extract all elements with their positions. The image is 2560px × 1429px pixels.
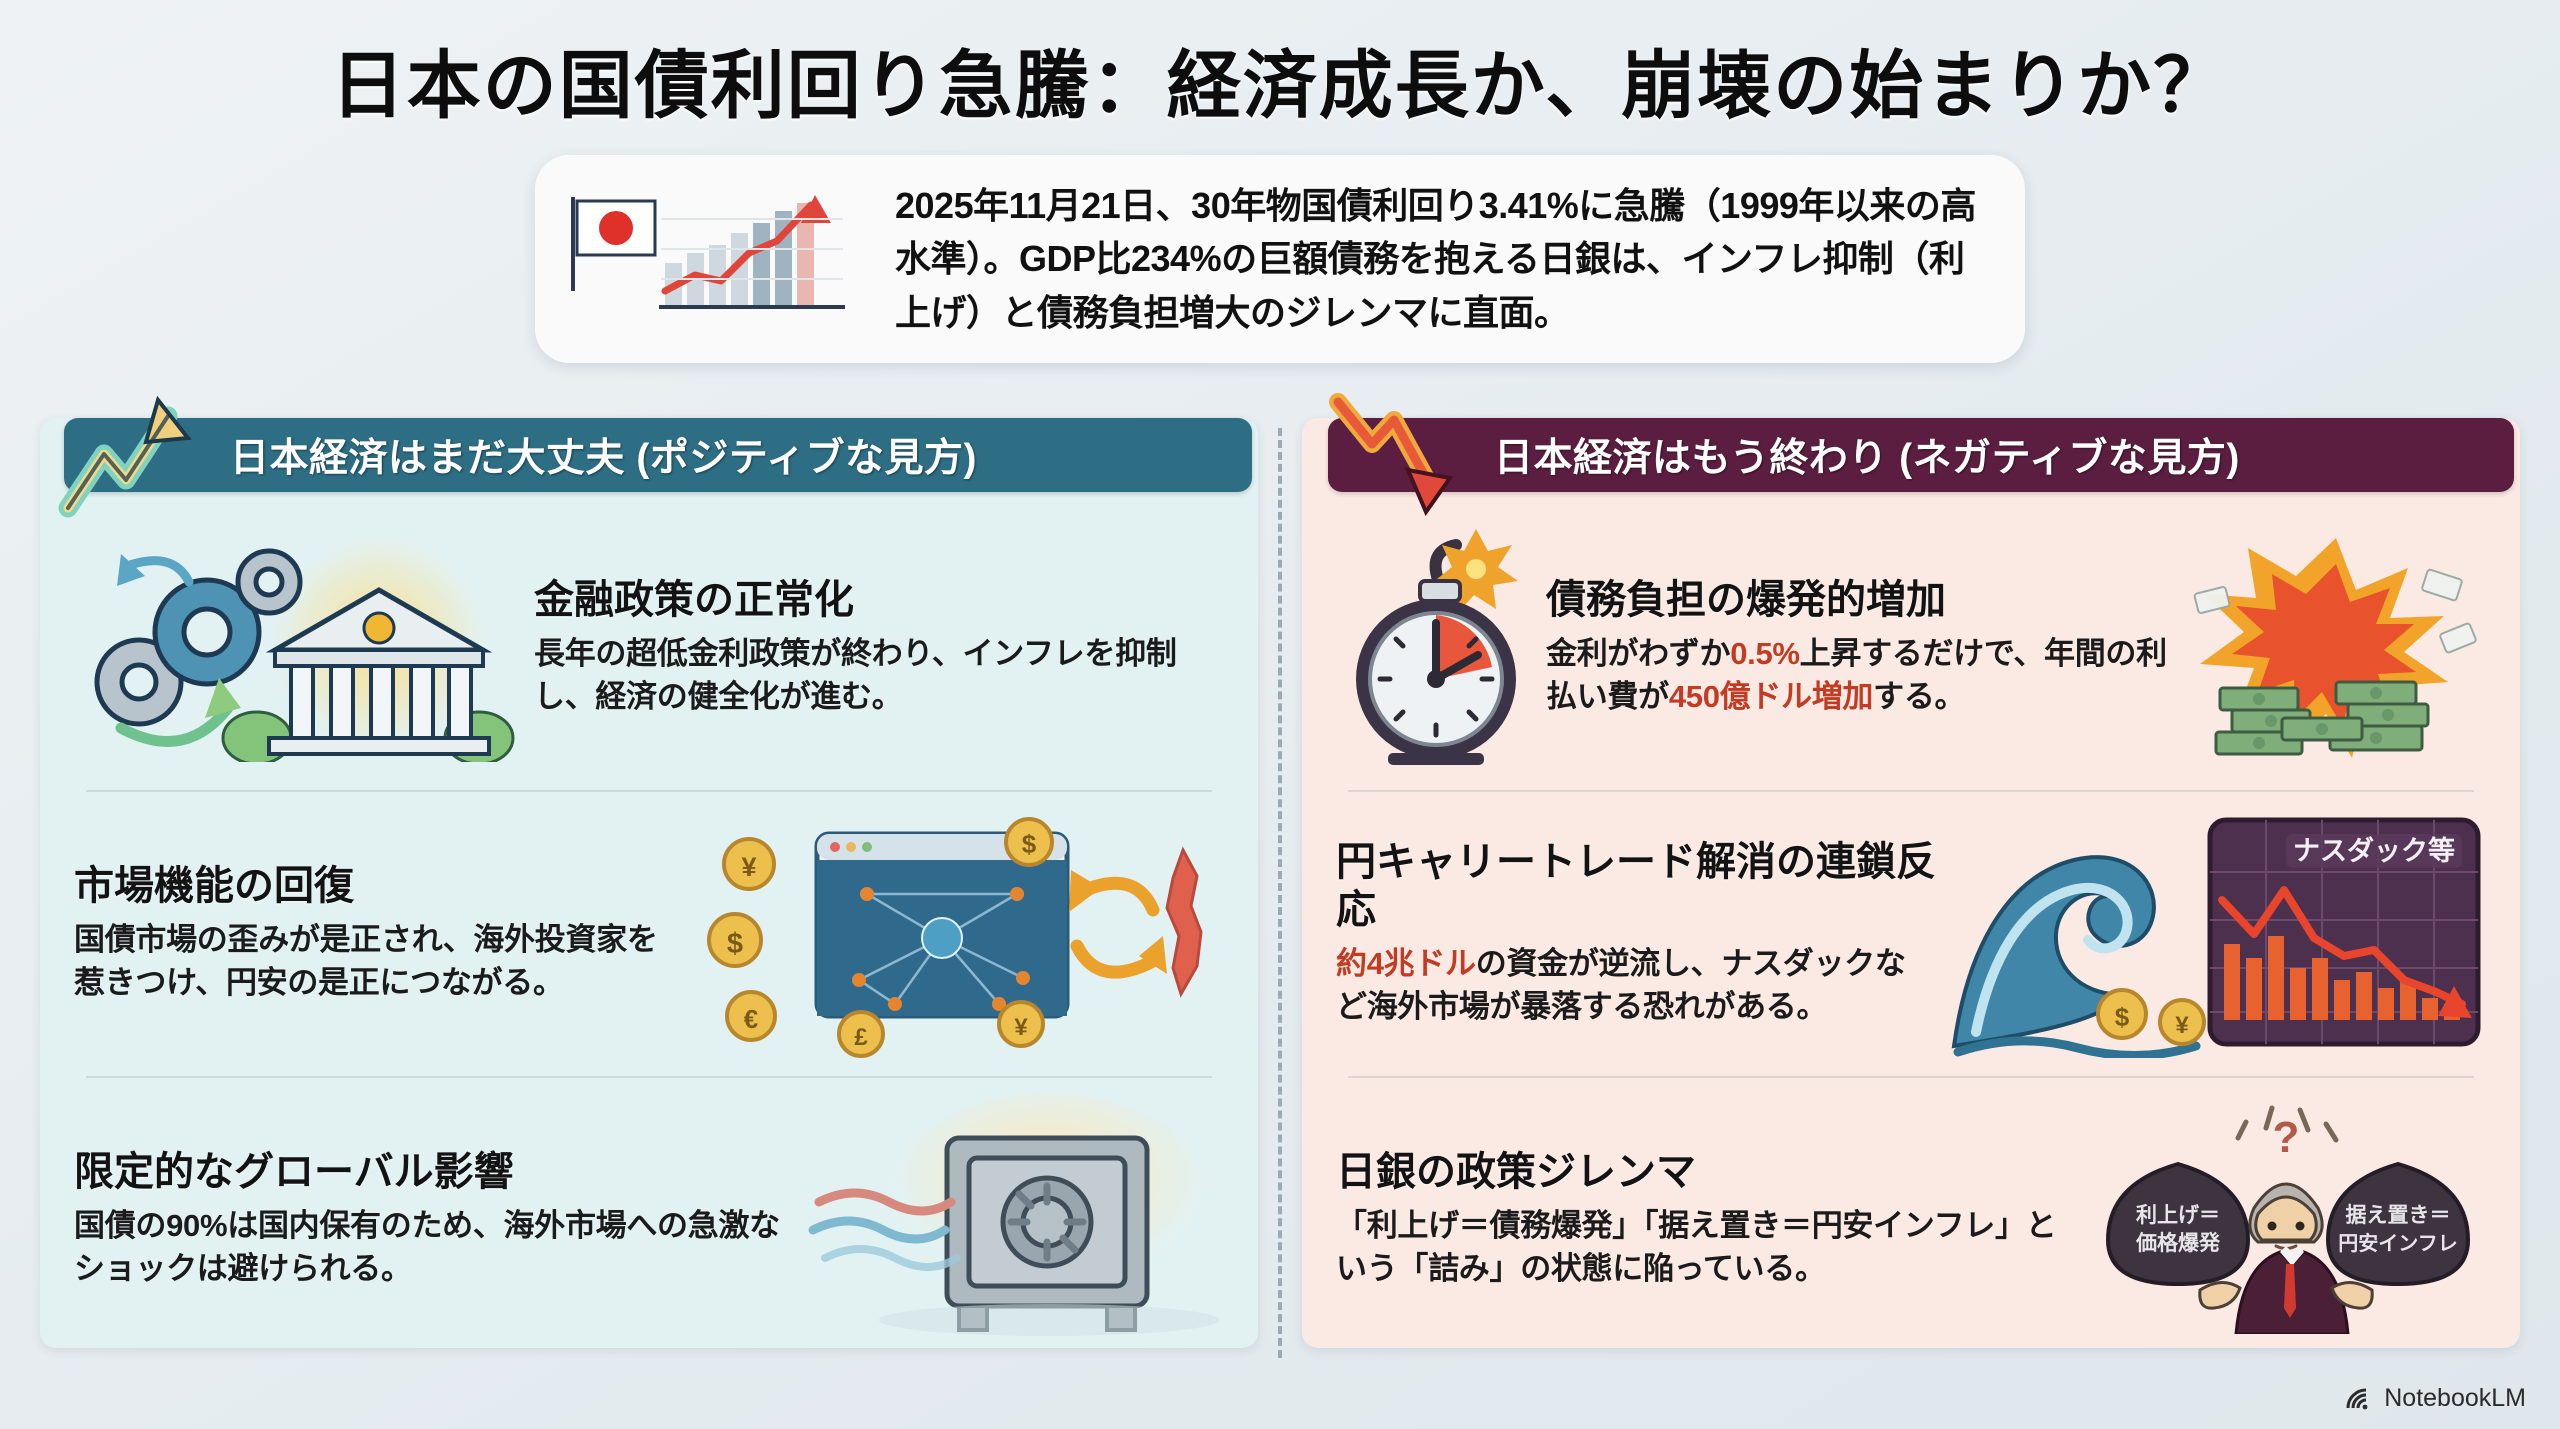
highlight-text: 450億ドル増加 (1669, 679, 1873, 714)
card-desc: 国債市場の歪みが是正され、海外投資家を惹きつけ、円安の是正につながる。 (74, 918, 684, 1005)
upward-arrow-icon (46, 392, 216, 520)
summary-card: 2025年11月21日、30年物国債利回り3.41%に急騰（1999年以来の高水… (535, 155, 2025, 363)
svg-text:¥: ¥ (1014, 1014, 1028, 1041)
card-title: 円キャリートレード解消の連鎖反応 (1336, 838, 1936, 934)
bag-right-line2: 円安インフレ (2338, 1231, 2457, 1255)
svg-text:£: £ (854, 1024, 868, 1051)
safe-vault-icon (794, 1094, 1224, 1344)
card-title: 債務負担の爆発的増加 (1546, 576, 2176, 624)
panel-positive-title: 日本経済はまだ大丈夫 (ポジティブな見方) (230, 427, 977, 483)
plain-text: 「利上げ＝債務爆発」「据え置き＝円安インフレ」という「詰み」の状態に陥っている。 (1336, 1208, 2056, 1286)
comparison-panels: 日本経済はまだ大丈夫 (ポジティブな見方) (0, 418, 2560, 1378)
page-title: 日本の国債利回り急騰：経済成長か、崩壊の始まりか？ (0, 0, 2560, 133)
card-desc: 「利上げ＝債務爆発」「据え置き＝円安インフレ」という「詰み」の状態に陥っている。 (1336, 1204, 2076, 1291)
card-desc: 長年の超低金利政策が終わり、インフレを抑制し、経済の健全化が進む。 (534, 632, 1224, 719)
svg-text:$: $ (727, 928, 743, 960)
card-negative-1-text: 債務負担の爆発的増加 金利がわずか0.5%上昇するだけで、年間の利払い費が450… (1546, 576, 2176, 719)
card-desc: 金利がわずか0.5%上昇するだけで、年間の利払い費が450億ドル増加する。 (1546, 632, 2176, 719)
svg-text:$: $ (1022, 829, 1037, 859)
svg-text:¥: ¥ (2175, 1012, 2189, 1039)
card-title: 金融政策の正常化 (534, 576, 1224, 624)
panel-negative: 日本経済はもう終わり (ネガティブな見方) (1302, 418, 2520, 1378)
bag-left-line2: 価格爆発 (2135, 1231, 2221, 1255)
summary-section: 2025年11月21日、30年物国債利回り3.41%に急騰（1999年以来の高水… (0, 155, 2560, 363)
panel-divider (1278, 428, 1282, 1358)
downward-arrow-icon (1310, 392, 1480, 520)
chart-label: ナスダック等 (2293, 835, 2455, 866)
card-title: 限定的なグローバル影響 (74, 1148, 784, 1196)
card-negative-3-text: 日銀の政策ジレンマ 「利上げ＝債務爆発」「据え置き＝円安インフレ」という「詰み」… (1336, 1148, 2076, 1291)
watermark-label: NotebookLM (2384, 1384, 2526, 1413)
summary-text: 2025年11月21日、30年物国債利回り3.41%に急騰（1999年以来の高水… (895, 179, 1983, 339)
card-title: 市場機能の回復 (74, 862, 684, 910)
card-positive-2[interactable]: 市場機能の回復 国債市場の歪みが是正され、海外投資家を惹きつけ、円安の是正につな… (40, 790, 1258, 1076)
bag-right-line1: 据え置き＝ (2346, 1204, 2451, 1227)
notebooklm-logo-icon (2344, 1386, 2374, 1412)
japan-flag-rising-chart-icon (569, 179, 869, 339)
svg-text:?: ? (2273, 1113, 2300, 1162)
svg-text:¥: ¥ (741, 852, 756, 882)
card-desc: 国債の90%は国内保有のため、海外市場への急激なショックは避けられる。 (74, 1204, 784, 1291)
exploding-money-stack-icon (2186, 532, 2486, 762)
card-positive-1-text: 金融政策の正常化 長年の超低金利政策が終わり、インフレを抑制し、経済の健全化が進… (534, 576, 1224, 719)
panel-negative-title: 日本経済はもう終わり (ネガティブな見方) (1494, 427, 2240, 483)
card-desc: 約4兆ドルの資金が逆流し、ナスダックなど海外市場が暴落する恐れがある。 (1336, 942, 1936, 1029)
svg-text:$: $ (2115, 1002, 2130, 1032)
highlight-text: 0.5% (1730, 636, 1799, 671)
svg-text:€: € (744, 1004, 758, 1034)
highlight-text: 約4兆ドル (1336, 946, 1476, 981)
tsunami-crash-chart-icon: $ ¥ (1946, 808, 2486, 1058)
card-positive-3-text: 限定的なグローバル影響 国債の90%は国内保有のため、海外市場への急激なショック… (74, 1148, 784, 1291)
time-bomb-clock-icon (1336, 527, 1536, 767)
boj-governor-dilemma-icon: ? 利上げ＝ 価格爆発 据え置き＝ 円安インフレ (2086, 1104, 2486, 1334)
bag-left-line1: 利上げ＝ (2136, 1204, 2220, 1227)
plain-text: する。 (1873, 679, 1965, 714)
panel-negative-body: 債務負担の爆発的増加 金利がわずか0.5%上昇するだけで、年間の利払い費が450… (1302, 418, 2520, 1348)
card-negative-2-text: 円キャリートレード解消の連鎖反応 約4兆ドルの資金が逆流し、ナスダックなど海外市… (1336, 838, 1936, 1029)
card-negative-1[interactable]: 債務負担の爆発的増加 金利がわずか0.5%上昇するだけで、年間の利払い費が450… (1302, 504, 2520, 790)
panel-negative-header: 日本経済はもう終わり (ネガティブな見方) (1328, 418, 2514, 492)
card-positive-1[interactable]: 金融政策の正常化 長年の超低金利政策が終わり、インフレを抑制し、経済の健全化が進… (40, 504, 1258, 790)
panel-positive-body: 金融政策の正常化 長年の超低金利政策が終わり、インフレを抑制し、経済の健全化が進… (40, 418, 1258, 1348)
notebooklm-watermark: NotebookLM (2344, 1384, 2526, 1413)
plain-text: 金利がわずか (1546, 636, 1730, 671)
card-negative-3[interactable]: 日銀の政策ジレンマ 「利上げ＝債務爆発」「据え置き＝円安インフレ」という「詰み」… (1302, 1076, 2520, 1362)
global-currency-network-icon: ¥ $ € £ $ ¥ (694, 808, 1224, 1058)
panel-positive-header: 日本経済はまだ大丈夫 (ポジティブな見方) (64, 418, 1252, 492)
card-negative-2[interactable]: 円キャリートレード解消の連鎖反応 約4兆ドルの資金が逆流し、ナスダックなど海外市… (1302, 790, 2520, 1076)
card-title: 日銀の政策ジレンマ (1336, 1148, 2076, 1196)
card-positive-3[interactable]: 限定的なグローバル影響 国債の90%は国内保有のため、海外市場への急激なショック… (40, 1076, 1258, 1362)
panel-positive: 日本経済はまだ大丈夫 (ポジティブな見方) (40, 418, 1258, 1378)
card-positive-2-text: 市場機能の回復 国債市場の歪みが是正され、海外投資家を惹きつけ、円安の是正につな… (74, 862, 684, 1005)
bank-gears-icon (74, 532, 524, 762)
